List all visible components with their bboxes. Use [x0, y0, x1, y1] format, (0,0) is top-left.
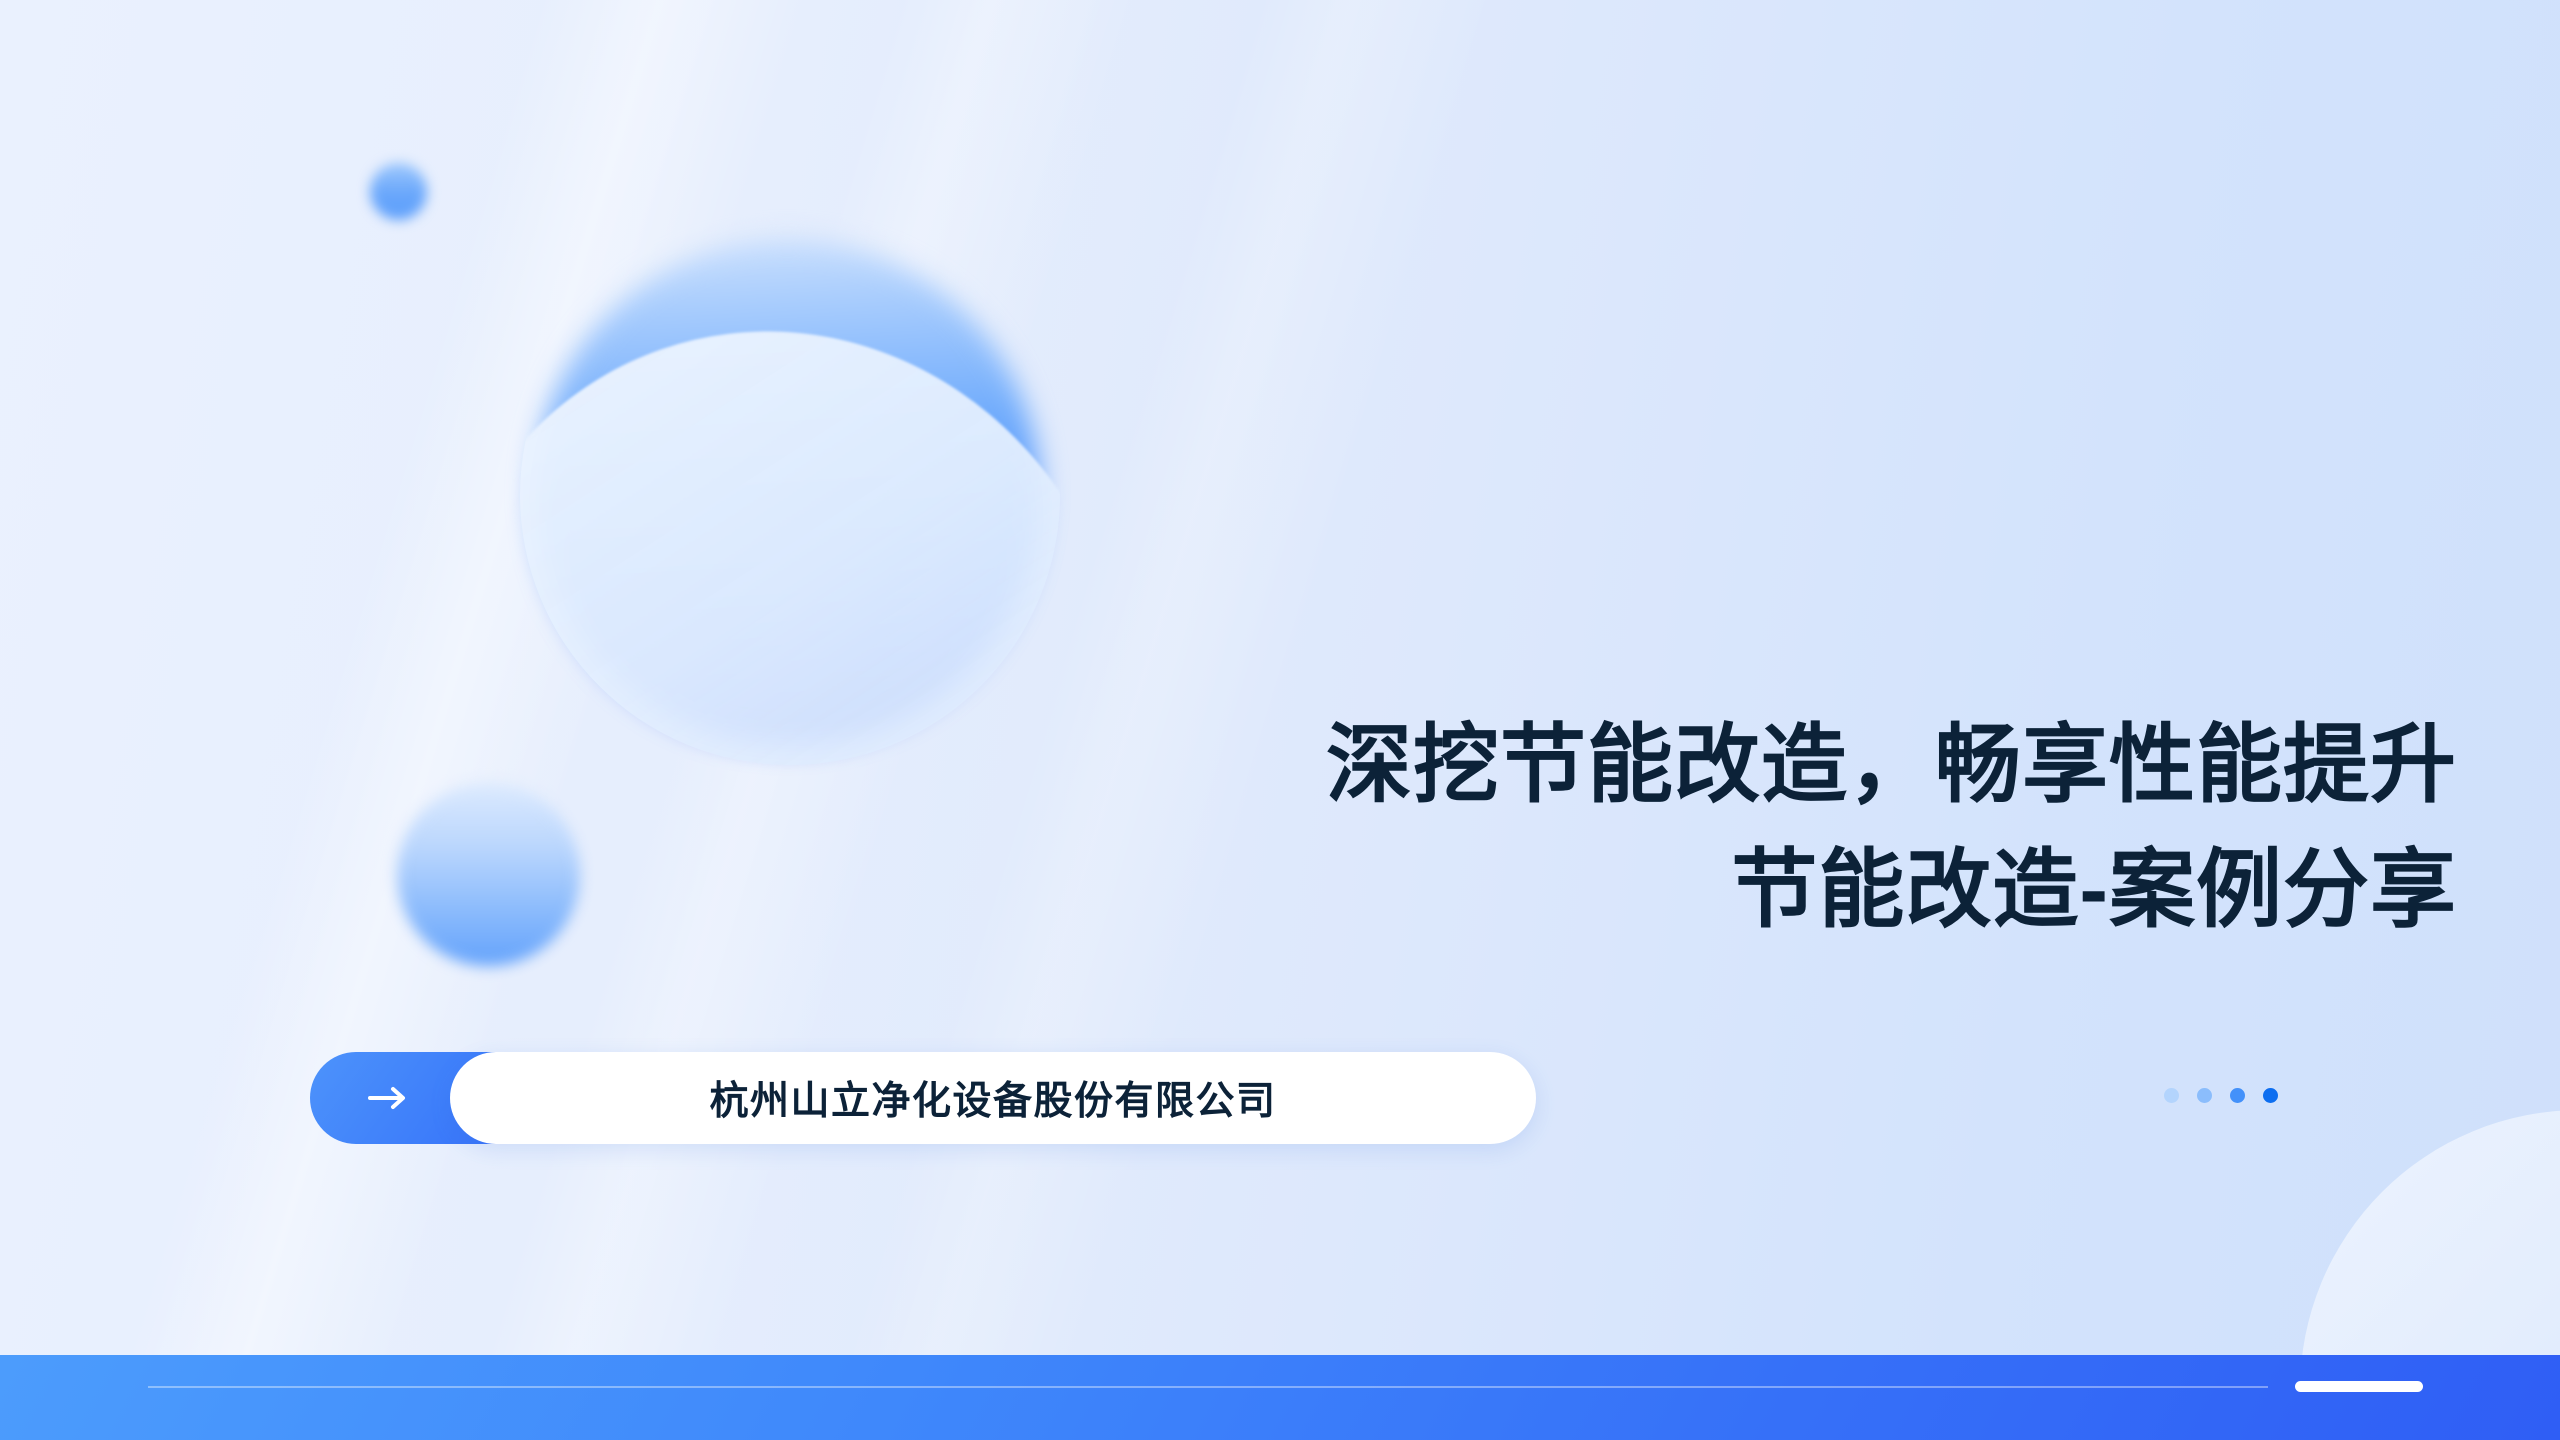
footer-track-line [148, 1386, 2268, 1388]
pagination-dot-3[interactable] [2230, 1088, 2245, 1103]
pagination-dot-1[interactable] [2164, 1088, 2179, 1103]
company-name-container[interactable]: 杭州山立净化设备股份有限公司 [450, 1052, 1536, 1144]
decorative-mid-circle [397, 783, 580, 966]
pagination-dot-2[interactable] [2197, 1088, 2212, 1103]
slide-title: 深挖节能改造，畅享性能提升 节能改造-案例分享 [1326, 703, 2457, 952]
pagination-dot-4[interactable] [2263, 1088, 2278, 1103]
presentation-slide: 深挖节能改造，畅享性能提升 节能改造-案例分享 杭州山立净化设备股份有限公司 [0, 0, 2560, 1440]
arrow-right-icon [368, 1085, 410, 1111]
decorative-sphere-highlight-clip [520, 225, 1060, 765]
pagination-dots[interactable] [2164, 1088, 2278, 1103]
title-line-2: 节能改造-案例分享 [1326, 828, 2457, 953]
decorative-sphere-crescent [520, 261, 1060, 765]
company-name-label: 杭州山立净化设备股份有限公司 [709, 1070, 1276, 1126]
title-line-1: 深挖节能改造，畅享性能提升 [1326, 703, 2457, 828]
footer-bar [0, 1355, 2560, 1440]
decorative-small-circle [370, 163, 427, 220]
footer-progress-indicator[interactable] [2295, 1381, 2423, 1392]
